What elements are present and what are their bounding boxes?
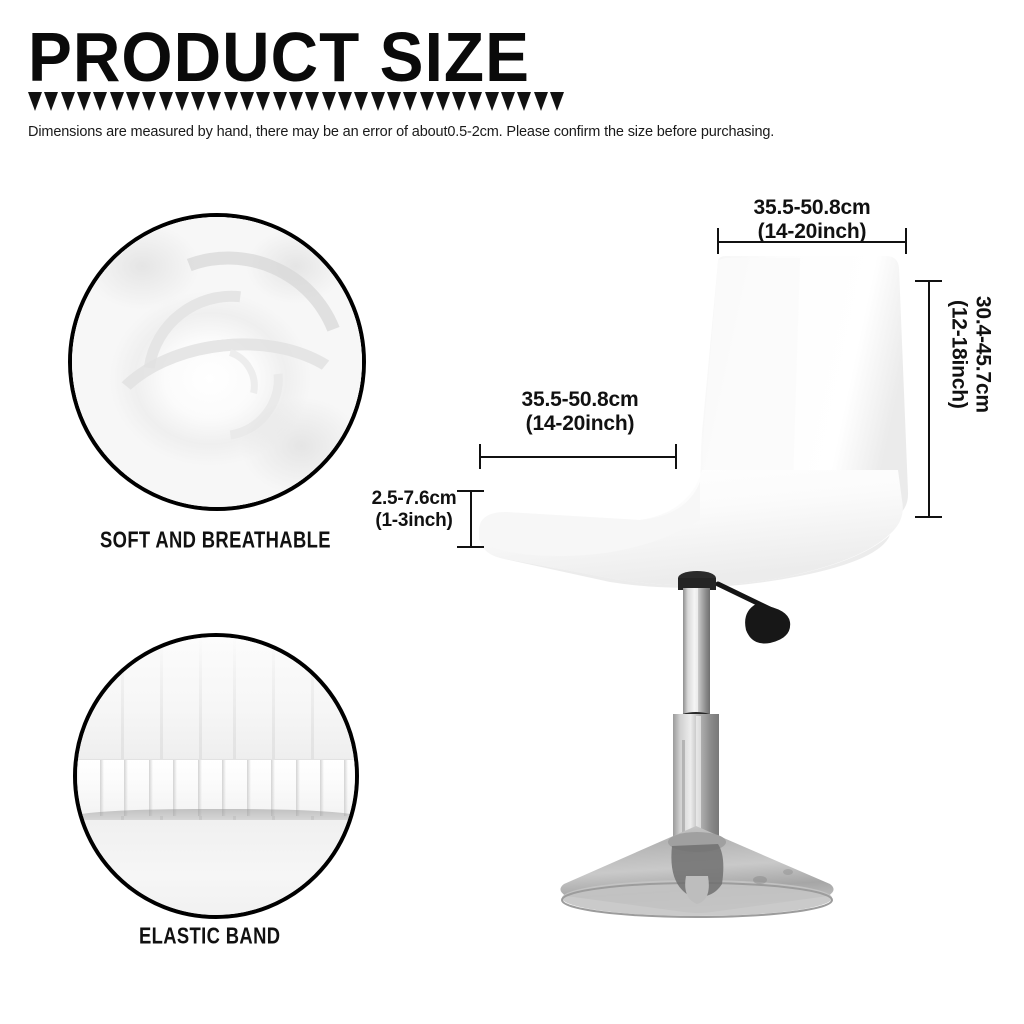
- dimension-cap-top: [915, 280, 942, 282]
- dimension-cap-bottom: [457, 546, 484, 548]
- dimension-cap-right: [675, 444, 677, 469]
- chair-illustration: [0, 0, 1024, 1024]
- dimension-label-backrest-height: 30.4-45.7cm (12-18inch): [946, 264, 995, 444]
- dimension-label-backrest-width: 35.5-50.8cm (14-20inch): [692, 196, 932, 245]
- dimension-cap-bottom: [915, 516, 942, 518]
- dimension-label-seat-thickness: 2.5-7.6cm (1-3inch): [358, 488, 470, 532]
- dimension-line-seat-thickness: [470, 490, 472, 548]
- dimension-cap-top: [457, 490, 484, 492]
- dimension-line-backrest-width: [717, 241, 907, 243]
- dimension-cap-right: [905, 228, 907, 254]
- dimension-line-backrest-height: [928, 280, 930, 518]
- product-size-infographic: PRODUCT SIZE Dimensions are measured by …: [0, 0, 1024, 1024]
- dimension-label-seat-width: 35.5-50.8cm (14-20inch): [460, 388, 700, 437]
- dimension-line-seat-width: [479, 456, 677, 458]
- dimension-cap-left: [479, 444, 481, 469]
- gas-lift-lever-handle: [745, 604, 790, 643]
- dimension-cap-left: [717, 228, 719, 254]
